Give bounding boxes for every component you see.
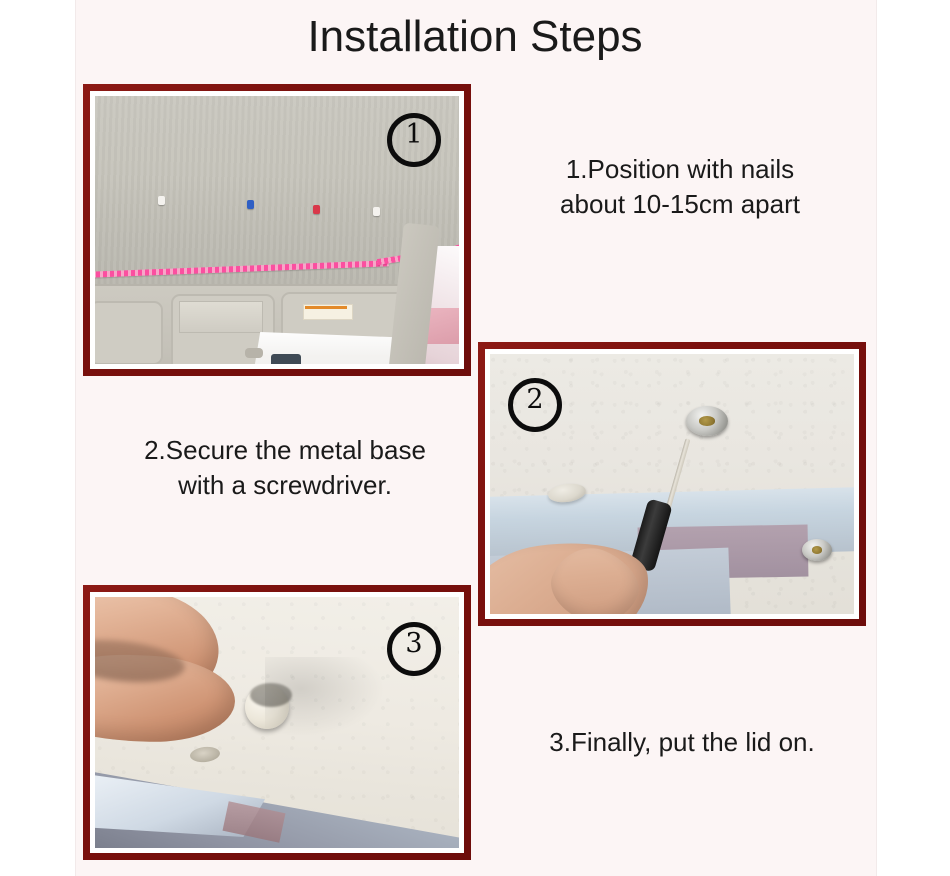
step-1-caption: 1.Position with nails about 10-15cm apar…	[495, 152, 865, 222]
ceiling-clip	[245, 348, 263, 358]
metal-base-screw	[686, 406, 728, 436]
ceiling-shading	[265, 657, 385, 737]
marker-nail-3	[313, 205, 320, 214]
step-2-badge: 2	[508, 378, 562, 432]
installed-screw-right	[802, 539, 832, 561]
step-3-photo-mat: 3	[90, 592, 464, 853]
step-2-photo-mat: 2	[485, 349, 859, 619]
page-root: Installation Steps	[0, 0, 950, 876]
step-3-photo-frame: 3	[83, 585, 471, 860]
trim-panel-left	[95, 301, 163, 364]
step-2-photo: 2	[490, 354, 854, 614]
rearview-mount	[271, 354, 301, 364]
step-1-badge: 1	[387, 113, 441, 167]
step-3-badge: 3	[387, 622, 441, 676]
marker-nail-2	[247, 200, 254, 209]
step-2-photo-frame: 2	[478, 342, 866, 626]
step-2-caption: 2.Secure the metal base with a screwdriv…	[96, 433, 474, 503]
marker-nail-1	[158, 196, 165, 205]
step-1-photo-frame: 1	[83, 84, 471, 376]
visor-mirror	[179, 301, 263, 333]
step-3-caption: 3.Finally, put the lid on.	[492, 725, 872, 760]
visor-warning-stripe	[305, 306, 347, 309]
step-1-photo: 1	[95, 96, 459, 364]
step-1-photo-mat: 1	[90, 91, 464, 369]
marker-nail-4	[373, 207, 380, 216]
page-title: Installation Steps	[0, 8, 950, 66]
step-3-photo: 3	[95, 597, 459, 848]
